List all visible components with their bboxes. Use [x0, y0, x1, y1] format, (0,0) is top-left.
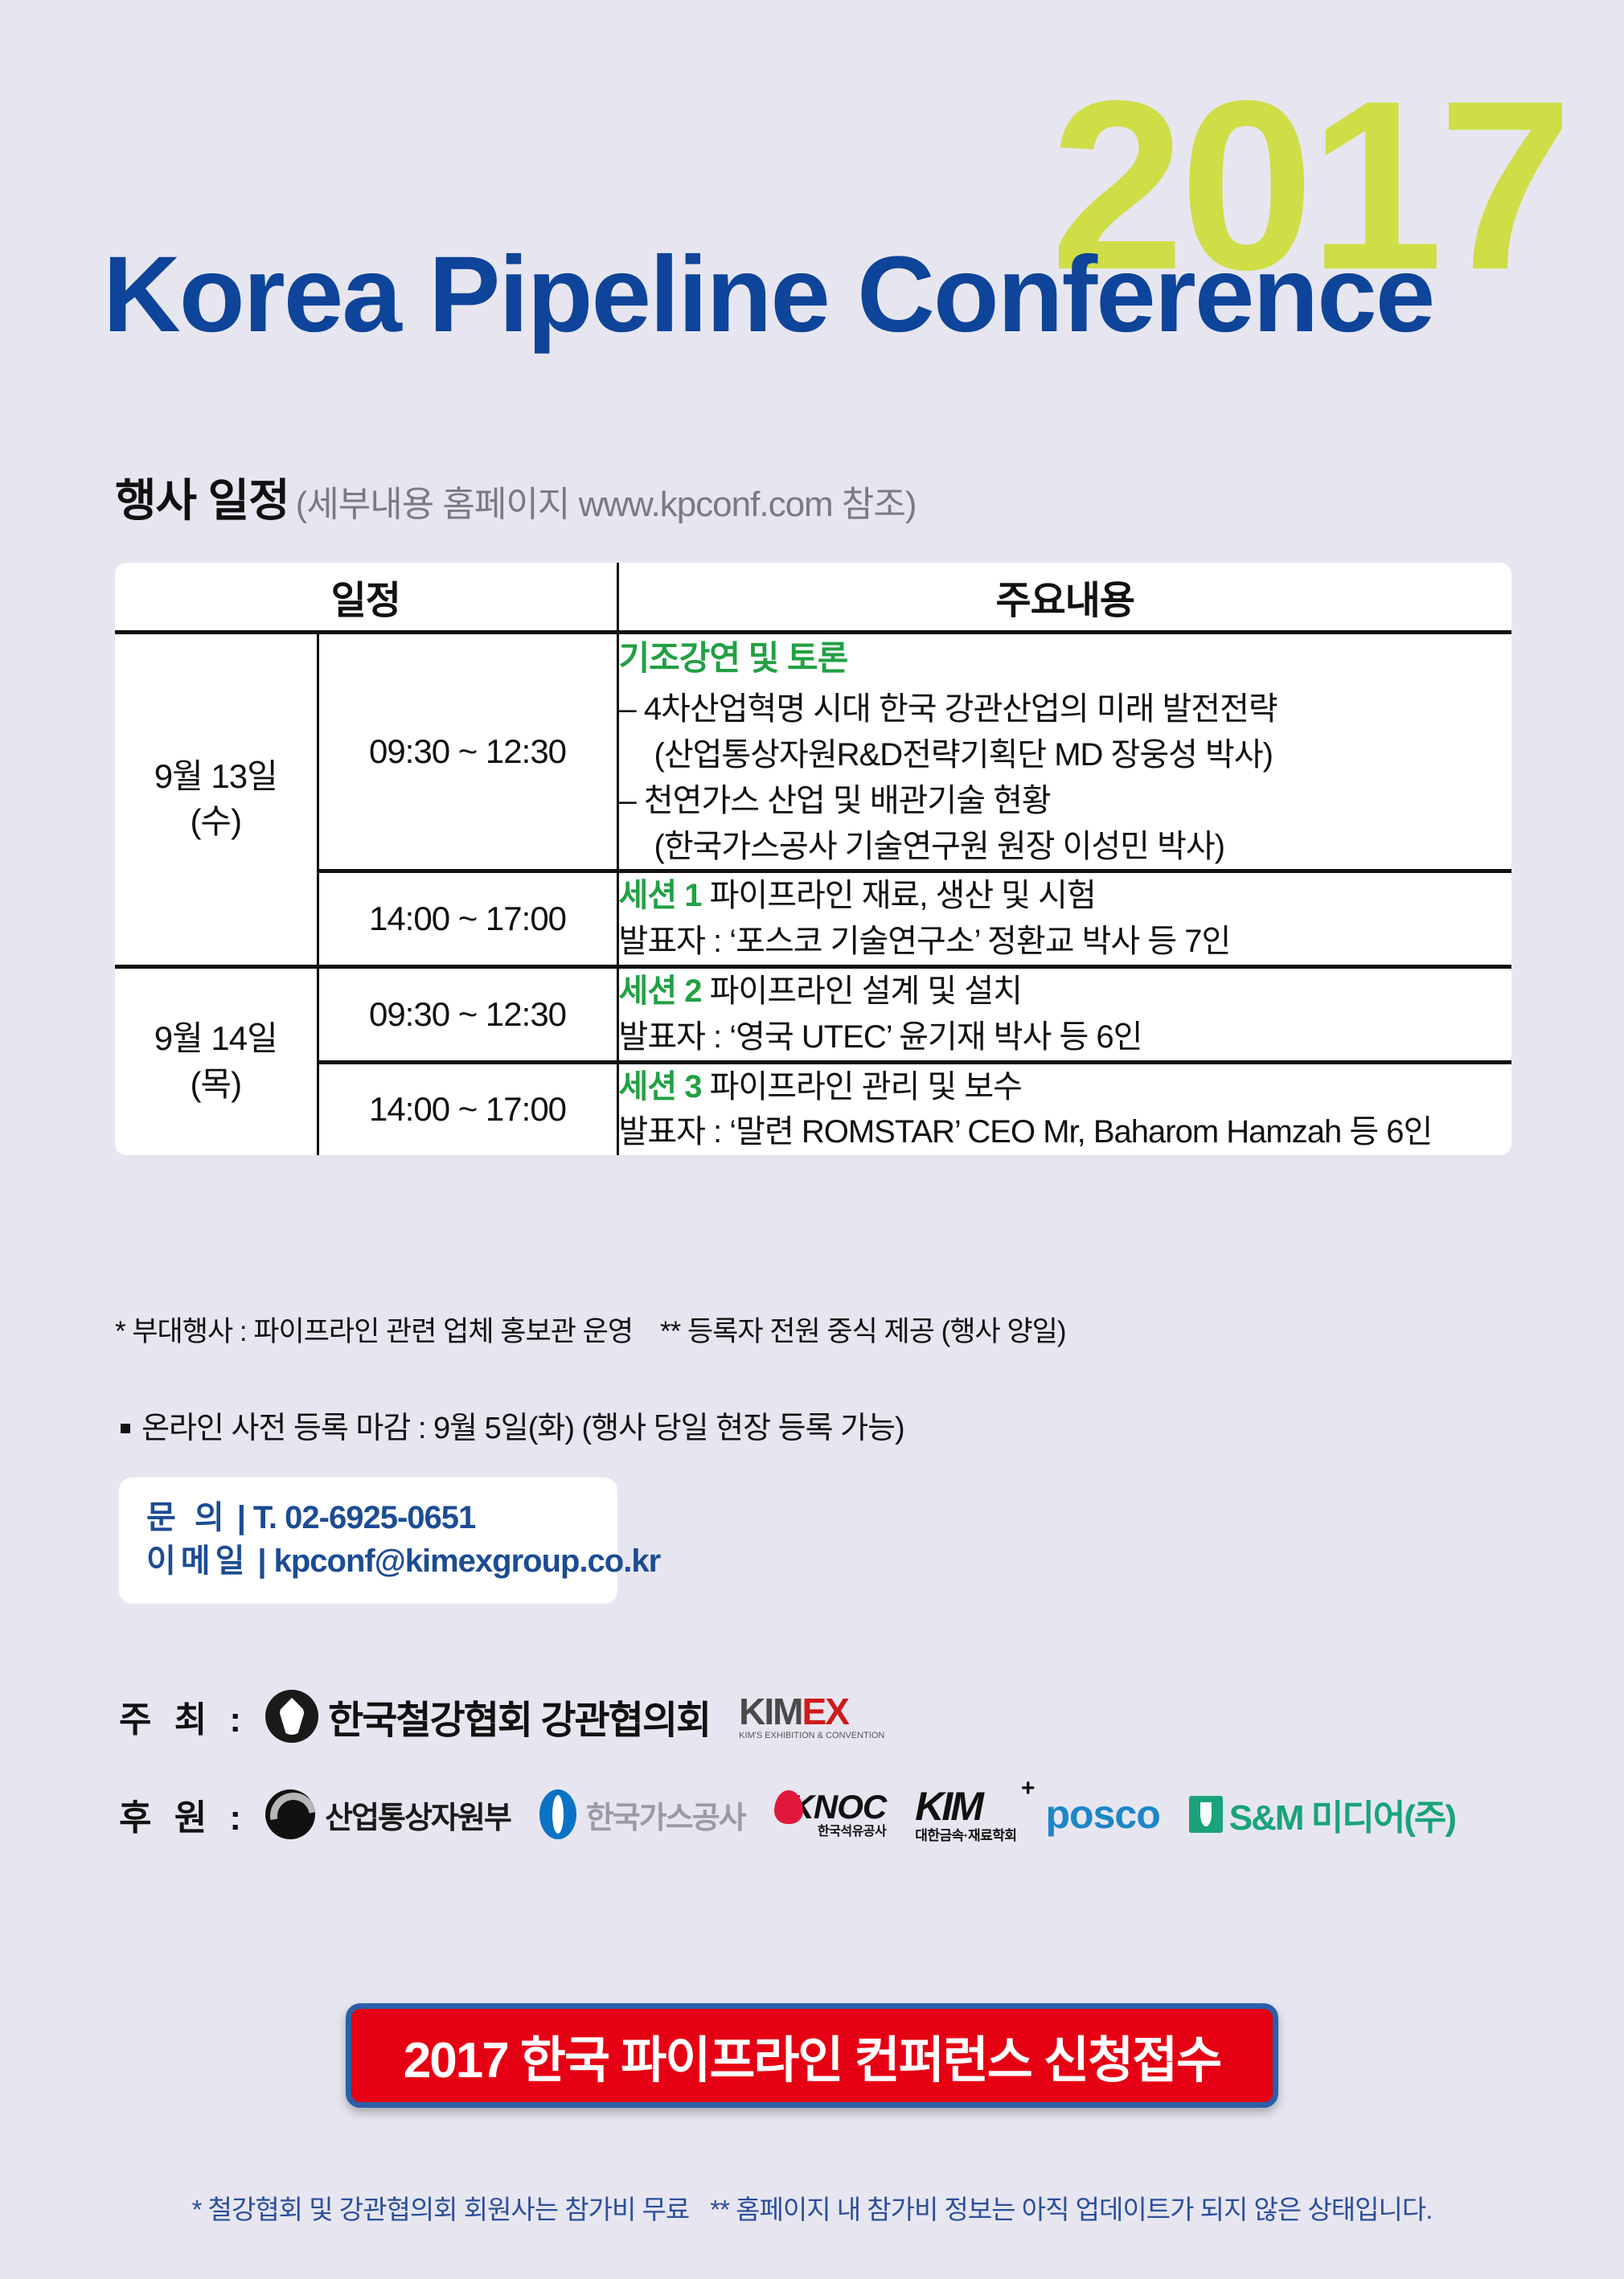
- sponsor-kogas-name: 한국가스공사: [586, 1793, 745, 1837]
- sm-media-icon: [1189, 1796, 1223, 1833]
- registration-note-text: 온라인 사전 등록 마감 : 9월 5일(화) (행사 당일 현장 등록 가능): [141, 1412, 904, 1445]
- sponsor-knoc-sub: 한국석유공사: [774, 1826, 887, 1838]
- cell-content-0: 기조강연 및 토론 – 4차산업혁명 시대 한국 강관산업의 미래 발전전략 (…: [617, 632, 1511, 871]
- sponsor-label: 후 원 :: [119, 1789, 248, 1840]
- schedule-table: 일정 주요내용 9월 13일 (수) 09:30 ~ 12:30 기조강연 및 …: [115, 563, 1511, 1155]
- session-2-title-line: 세션 2 파이프라인 설계 및 설치: [619, 969, 1511, 1014]
- table-row: 9월 14일 (목) 09:30 ~ 12:30 세션 2 파이프라인 설계 및…: [115, 966, 1511, 1062]
- sponsor-row: 후 원 : 산업통상자원부 한국가스공사 KNOC 한국석유공사 KIM+: [119, 1786, 1484, 1842]
- session-2-label: 세션 2: [619, 973, 702, 1009]
- footer-note-2: ** 홈페이지 내 참가비 정보는 아직 업데이트가 되지 않은 상태입니다.: [710, 2195, 1432, 2224]
- note-side-events: * 부대행사 : 파이프라인 관련 업체 홍보관 운영: [115, 1316, 633, 1347]
- session-2-title: 파이프라인 설계 및 설치: [710, 973, 1022, 1009]
- kosa-seal-icon: [265, 1690, 318, 1743]
- sponsor-logo-sm-media: S&M 미디어(주): [1189, 1789, 1455, 1840]
- session-1-presenter: 발표자 : ‘포스코 기술연구소’ 정환교 박사 등 7인: [619, 919, 1511, 965]
- host-logo-kimex: KIMEX KIM'S EXHIBITION & CONVENTION: [739, 1693, 884, 1740]
- contact-separator: |: [237, 1500, 245, 1535]
- taegeuk-icon: [265, 1789, 315, 1839]
- session-3-presenter: 발표자 : ‘말련 ROMSTAR’ CEO Mr, Baharom Hamza…: [619, 1109, 1511, 1155]
- host-kosa-name: 한국철강협회 강관협의회: [328, 1688, 710, 1744]
- table-row: 14:00 ~ 17:00 세션 3 파이프라인 관리 및 보수 발표자 : ‘…: [115, 1062, 1511, 1155]
- contact-phone-row: 문 의|T. 02-6925-0651: [146, 1497, 593, 1540]
- session-2-presenter: 발표자 : ‘영국 UTEC’ 윤기재 박사 등 6인: [619, 1014, 1511, 1060]
- column-header-content: 주요내용: [617, 563, 1511, 632]
- keynote-item-2-bullet: – 천연가스 산업 및 배관기술 현황: [619, 778, 1511, 824]
- sponsor-knoc-name: KNOC: [790, 1790, 887, 1824]
- registration-note: 온라인 사전 등록 마감 : 9월 5일(화) (행사 당일 현장 등록 가능): [121, 1403, 904, 1447]
- note-lunch: ** 등록자 전원 중식 제공 (행사 양일): [660, 1316, 1066, 1347]
- apply-button[interactable]: 2017 한국 파이프라인 컨퍼런스 신청접수: [346, 2003, 1278, 2108]
- cell-date-sep13: 9월 13일 (수): [115, 632, 318, 966]
- schedule-notes: * 부대행사 : 파이프라인 관련 업체 홍보관 운영** 등록자 전원 중식 …: [115, 1309, 1066, 1350]
- date-line-1: 9월 13일: [115, 754, 317, 800]
- keynote-item-2-detail: (한국가스공사 기술연구원 원장 이성민 박사): [619, 824, 1511, 870]
- schedule-heading: 행사 일정(세부내용 홈페이지 www.kpconf.com 참조): [115, 478, 917, 523]
- keynote-title: 기조강연 및 토론: [619, 634, 1511, 682]
- poster-root: 2017 Korea Pipeline Conference 행사 일정(세부내…: [0, 0, 1624, 2279]
- session-3-title: 파이프라인 관리 및 보수: [710, 1069, 1022, 1105]
- sponsor-logo-knoc: KNOC 한국석유공사: [774, 1790, 887, 1838]
- sponsor-sm-name: S&M 미디어(주): [1229, 1789, 1455, 1840]
- keynote-item-1-detail: (산업통상자원R&D전략기획단 MD 장웅성 박사): [619, 732, 1511, 778]
- table-header-row: 일정 주요내용: [115, 563, 1511, 632]
- contact-separator: |: [257, 1543, 265, 1579]
- kimex-tagline: KIM'S EXHIBITION & CONVENTION: [739, 1732, 884, 1740]
- session-3-label: 세션 3: [619, 1069, 702, 1105]
- cell-date-sep14: 9월 14일 (목): [115, 966, 318, 1155]
- cell-content-3: 세션 3 파이프라인 관리 및 보수 발표자 : ‘말련 ROMSTAR’ CE…: [617, 1062, 1511, 1155]
- cell-time-2: 09:30 ~ 12:30: [318, 966, 617, 1062]
- schedule-heading-sub: (세부내용 홈페이지 www.kpconf.com 참조): [296, 485, 917, 524]
- sponsor-kim-name: KIM: [915, 1784, 982, 1829]
- kogas-icon: [539, 1789, 576, 1839]
- contact-box: 문 의|T. 02-6925-0651 이메일|kpconf@kimexgrou…: [119, 1478, 617, 1604]
- kimex-e: E: [802, 1691, 826, 1732]
- host-label: 주 최 :: [119, 1691, 248, 1742]
- cell-time-1: 14:00 ~ 17:00: [318, 871, 617, 967]
- sponsor-logo-kim: KIM+ 대한금속·재료학회: [915, 1786, 1016, 1842]
- kim-wordmark: KIM+: [915, 1786, 1016, 1826]
- page-title: Korea Pipeline Conference: [103, 241, 1433, 349]
- square-bullet-icon: [121, 1424, 130, 1433]
- keynote-item-1-bullet: – 4차산업혁명 시대 한국 강관산업의 미래 발전전략: [619, 687, 1511, 732]
- sponsor-posco-name: posco: [1046, 1791, 1160, 1838]
- contact-email-label: 이메일: [146, 1543, 249, 1579]
- knoc-wordmark: KNOC: [774, 1790, 887, 1824]
- session-1-title: 파이프라인 재료, 생산 및 시험: [710, 878, 1096, 913]
- cell-time-3: 14:00 ~ 17:00: [318, 1062, 617, 1155]
- sponsor-logo-motie: 산업통상자원부: [265, 1789, 511, 1839]
- host-row: 주 최 : 한국철강협회 강관협의회 KIMEX KIM'S EXHIBITIO…: [119, 1688, 913, 1744]
- sponsor-kim-sub: 대한금속·재료학회: [915, 1829, 1016, 1842]
- apply-button-label: 2017 한국 파이프라인 컨퍼런스 신청접수: [404, 2019, 1220, 2092]
- column-header-schedule: 일정: [115, 563, 617, 632]
- sponsor-logo-kogas: 한국가스공사: [539, 1789, 745, 1839]
- cell-time-0: 09:30 ~ 12:30: [318, 632, 617, 871]
- footer-note-1: * 철강협회 및 강관협의회 회원사는 참가비 무료: [192, 2195, 690, 2224]
- kimex-x: X: [825, 1691, 848, 1732]
- table-row: 14:00 ~ 17:00 세션 1 파이프라인 재료, 생산 및 시험 발표자…: [115, 871, 1511, 967]
- sponsor-logo-posco: posco: [1046, 1791, 1160, 1838]
- cell-content-1: 세션 1 파이프라인 재료, 생산 및 시험 발표자 : ‘포스코 기술연구소’…: [617, 871, 1511, 967]
- session-1-title-line: 세션 1 파이프라인 재료, 생산 및 시험: [619, 873, 1511, 919]
- cell-content-2: 세션 2 파이프라인 설계 및 설치 발표자 : ‘영국 UTEC’ 윤기재 박…: [617, 966, 1511, 1062]
- sponsor-motie-name: 산업통상자원부: [325, 1793, 511, 1837]
- contact-email-row: 이메일|kpconf@kimexgroup.co.kr: [146, 1540, 593, 1584]
- table-row: 9월 13일 (수) 09:30 ~ 12:30 기조강연 및 토론 – 4차산…: [115, 632, 1511, 871]
- plus-icon: +: [1021, 1777, 1033, 1801]
- poster-header: 2017 Korea Pipeline Conference: [0, 0, 1624, 418]
- session-3-title-line: 세션 3 파이프라인 관리 및 보수: [619, 1064, 1511, 1110]
- date-line-2: (수): [115, 799, 317, 845]
- knoc-flame-icon: [774, 1790, 803, 1824]
- contact-phone-value[interactable]: T. 02-6925-0651: [253, 1500, 475, 1535]
- session-1-label: 세션 1: [619, 878, 702, 913]
- date-line-2: (목): [115, 1062, 317, 1108]
- host-logo-kosa: 한국철강협회 강관협의회: [265, 1688, 710, 1744]
- footer-note: * 철강협회 및 강관협의회 회원사는 참가비 무료** 홈페이지 내 참가비 …: [0, 2188, 1624, 2227]
- schedule-heading-main: 행사 일정: [115, 475, 289, 526]
- contact-phone-label: 문 의: [146, 1500, 229, 1535]
- contact-email-value[interactable]: kpconf@kimexgroup.co.kr: [274, 1543, 661, 1579]
- kimex-k: KIM: [739, 1691, 802, 1732]
- date-line-1: 9월 14일: [115, 1016, 317, 1062]
